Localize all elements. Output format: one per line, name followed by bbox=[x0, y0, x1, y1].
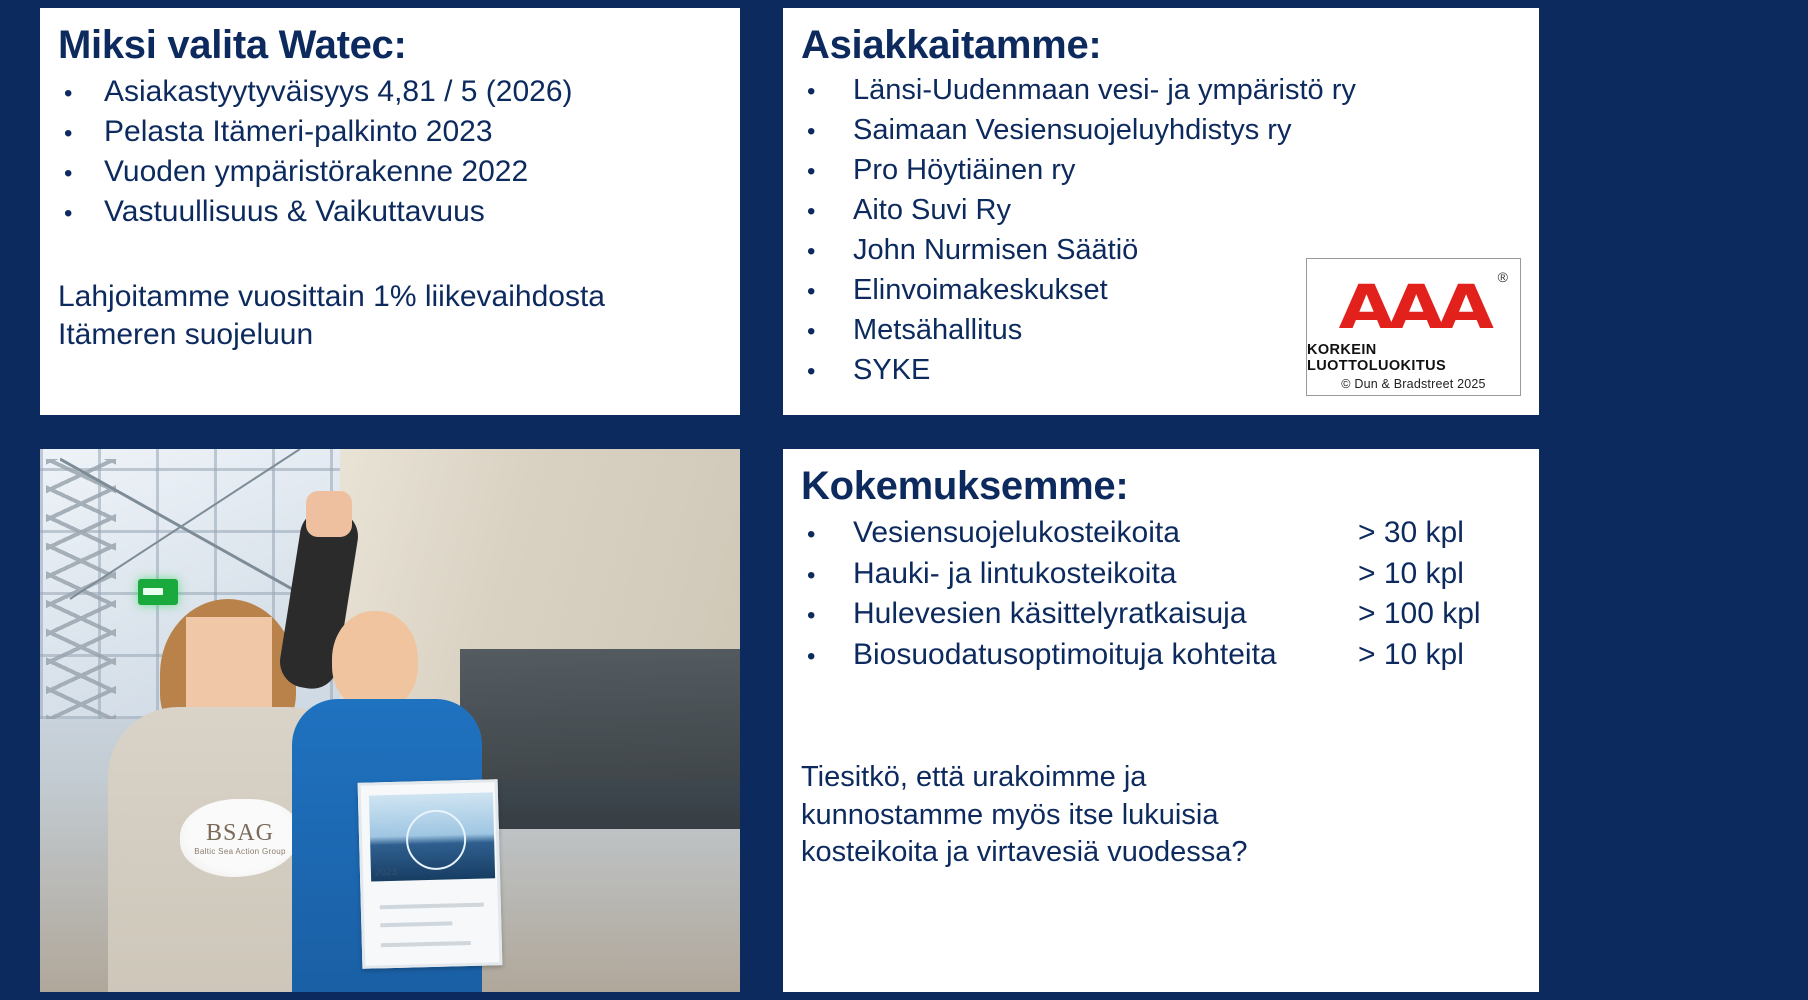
certificate-seal bbox=[405, 809, 467, 871]
aaa-caption: KORKEIN LUOTTOLUOKITUS bbox=[1307, 342, 1520, 374]
experience-list: • Vesiensuojelukosteikoita > 30 kpl • Ha… bbox=[801, 513, 1521, 675]
bullet-icon: • bbox=[801, 280, 853, 304]
bullet-icon: • bbox=[58, 202, 104, 226]
panel-why-choose-watec: Miksi valita Watec: • Asiakastyytyväisyy… bbox=[40, 8, 740, 415]
panel-customers: Asiakkaitamme: • Länsi-Uudenmaan vesi- j… bbox=[783, 8, 1539, 415]
bullet-icon: • bbox=[58, 82, 104, 106]
bullet-icon: • bbox=[801, 564, 853, 588]
certificate-text-line bbox=[380, 921, 452, 927]
bullet-icon: • bbox=[801, 645, 853, 669]
list-item: • Aito Suvi Ry bbox=[801, 190, 1521, 230]
panel-why-heading: Miksi valita Watec: bbox=[58, 24, 722, 66]
experience-label: Hauki- ja lintukosteikoita bbox=[853, 554, 1358, 595]
list-item: • Pro Höytiäinen ry bbox=[801, 150, 1521, 190]
award-ceremony-photo: BSAG Baltic Sea Action Group 2023 bbox=[40, 449, 740, 992]
bullet-icon: • bbox=[801, 604, 853, 628]
list-item: • Saimaan Vesiensuojeluyhdistys ry bbox=[801, 110, 1521, 150]
list-item: • Asiakastyytyväisyys 4,81 / 5 (2026) bbox=[58, 72, 722, 112]
person-1-head bbox=[186, 617, 272, 721]
aaa-mark: AAA ® bbox=[1307, 267, 1520, 333]
why-item-label: Vastuullisuus & Vaikuttavuus bbox=[104, 192, 722, 232]
why-item-label: Asiakastyytyväisyys 4,81 / 5 (2026) bbox=[104, 72, 722, 112]
certificate-year: 2023 bbox=[375, 867, 398, 879]
experience-value: > 10 kpl bbox=[1358, 554, 1521, 595]
experience-label: Vesiensuojelukosteikoita bbox=[853, 513, 1358, 554]
panel-experience-heading: Kokemuksemme: bbox=[801, 465, 1521, 507]
donation-note: Lahjoitamme vuosittain 1% liikevaihdosta… bbox=[58, 278, 722, 355]
list-item: • Vastuullisuus & Vaikuttavuus bbox=[58, 192, 722, 232]
table-row: • Hulevesien käsittelyratkaisuja > 100 k… bbox=[801, 594, 1521, 635]
why-bullet-list: • Asiakastyytyväisyys 4,81 / 5 (2026) • … bbox=[58, 72, 722, 232]
dark-background-area bbox=[460, 649, 740, 829]
experience-label: Hulevesien käsittelyratkaisuja bbox=[853, 594, 1358, 635]
aaa-letters: AAA bbox=[1339, 283, 1488, 333]
person-2-head bbox=[332, 611, 418, 711]
bullet-icon: • bbox=[801, 240, 853, 264]
bsag-tagline: Baltic Sea Action Group bbox=[194, 847, 285, 856]
customer-label: Aito Suvi Ry bbox=[853, 190, 1521, 230]
bsag-wordmark: BSAG bbox=[206, 820, 274, 847]
aaa-credit-rating-logo: AAA ® KORKEIN LUOTTOLUOKITUS © Dun & Bra… bbox=[1306, 258, 1521, 396]
experience-value: > 100 kpl bbox=[1358, 594, 1521, 635]
panel-experience: Kokemuksemme: • Vesiensuojelukosteikoita… bbox=[783, 449, 1539, 992]
registered-trademark-icon: ® bbox=[1498, 269, 1508, 285]
bullet-icon: • bbox=[58, 122, 104, 146]
bullet-icon: • bbox=[801, 523, 853, 547]
why-item-label: Vuoden ympäristörakenne 2022 bbox=[104, 152, 722, 192]
table-row: • Biosuodatusoptimoituja kohteita > 10 k… bbox=[801, 635, 1521, 676]
table-row: • Vesiensuojelukosteikoita > 30 kpl bbox=[801, 513, 1521, 554]
did-you-know-text: Tiesitkö, että urakoimme ja kunnostamme … bbox=[801, 759, 1271, 872]
aaa-copyright: © Dun & Bradstreet 2025 bbox=[1341, 377, 1485, 391]
award-certificate: 2023 bbox=[358, 779, 503, 969]
list-item: • Vuoden ympäristörakenne 2022 bbox=[58, 152, 722, 192]
panel-award-photo: BSAG Baltic Sea Action Group 2023 bbox=[40, 449, 740, 992]
bullet-icon: • bbox=[801, 200, 853, 224]
bullet-icon: • bbox=[801, 80, 853, 104]
bullet-icon: • bbox=[801, 120, 853, 144]
certificate-text-line bbox=[380, 903, 484, 910]
slide-root: Miksi valita Watec: • Asiakastyytyväisyy… bbox=[0, 0, 1808, 1000]
list-item: • Länsi-Uudenmaan vesi- ja ympäristö ry bbox=[801, 70, 1521, 110]
experience-value: > 10 kpl bbox=[1358, 635, 1521, 676]
experience-label: Biosuodatusoptimoituja kohteita bbox=[853, 635, 1358, 676]
table-row: • Hauki- ja lintukosteikoita > 10 kpl bbox=[801, 554, 1521, 595]
exit-sign-icon bbox=[138, 579, 178, 605]
experience-value: > 30 kpl bbox=[1358, 513, 1521, 554]
bullet-icon: • bbox=[801, 320, 853, 344]
bullet-icon: • bbox=[801, 360, 853, 384]
person-2-fist bbox=[306, 491, 352, 537]
certificate-text-line bbox=[381, 941, 471, 947]
bullet-icon: • bbox=[801, 160, 853, 184]
panel-customers-heading: Asiakkaitamme: bbox=[801, 24, 1521, 66]
list-item: • Pelasta Itämeri-palkinto 2023 bbox=[58, 112, 722, 152]
customer-label: Saimaan Vesiensuojeluyhdistys ry bbox=[853, 110, 1521, 150]
customer-label: Pro Höytiäinen ry bbox=[853, 150, 1521, 190]
customer-label: Länsi-Uudenmaan vesi- ja ympäristö ry bbox=[853, 70, 1521, 110]
bullet-icon: • bbox=[58, 162, 104, 186]
why-item-label: Pelasta Itämeri-palkinto 2023 bbox=[104, 112, 722, 152]
